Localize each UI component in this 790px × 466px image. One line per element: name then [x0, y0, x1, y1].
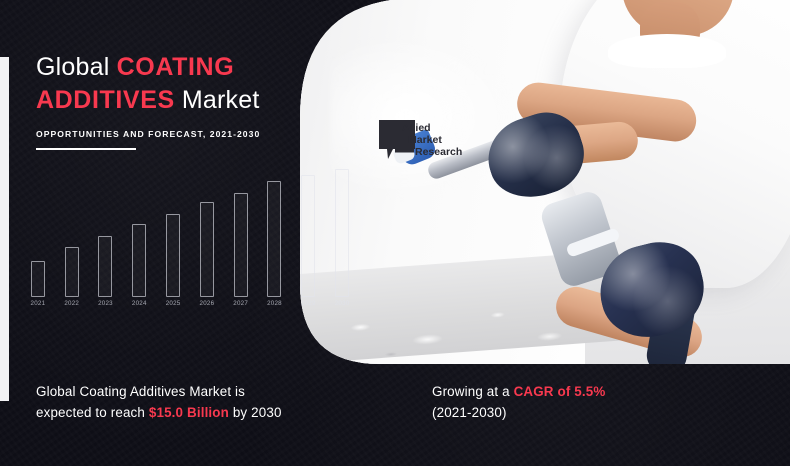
left-accent-strip [0, 57, 9, 401]
x-tick-label: 2023 [98, 300, 114, 316]
cagr-period: (2021-2030) [432, 402, 762, 423]
market-value-amount: $15.0 Billion [149, 405, 229, 420]
cagr-prefix: Growing at a [432, 384, 514, 399]
bar-column [300, 169, 316, 297]
headline-word-global: Global [36, 53, 109, 81]
headline-line-1: Global COATING [36, 52, 336, 83]
bar-column [199, 169, 215, 297]
x-tick-label: 2028 [267, 300, 283, 316]
bar [132, 224, 146, 297]
headline-word-additives: ADDITIVES [36, 86, 175, 114]
chart-bars [30, 169, 350, 297]
bar [234, 193, 248, 297]
market-value-line-2: expected to reach $15.0 Billion by 2030 [36, 402, 356, 423]
bar-column [233, 169, 249, 297]
allied-market-research-logo: Allied Market Research [378, 118, 482, 168]
x-tick-label: 2026 [199, 300, 215, 316]
bar-column [30, 169, 46, 297]
market-value-statement: Global Coating Additives Market is expec… [36, 381, 356, 423]
x-tick-label: 2022 [64, 300, 80, 316]
cagr-value: CAGR of 5.5% [514, 384, 606, 399]
bar [65, 247, 79, 297]
bar [335, 169, 349, 297]
spray-mist-glow [330, 35, 517, 200]
bar-column [267, 169, 283, 297]
bar-column [64, 169, 80, 297]
headline-word-market: Market [182, 86, 260, 114]
bar [98, 236, 112, 297]
bar [200, 202, 214, 297]
bar-column [98, 169, 114, 297]
x-tick-label: 2029 [300, 300, 316, 316]
x-tick-label: 2024 [131, 300, 147, 316]
bar-column [165, 169, 181, 297]
bar-column [131, 169, 147, 297]
bar [31, 261, 45, 297]
bar [301, 175, 315, 297]
worker-shirt-collar [608, 34, 726, 68]
logo-svg: Allied Market Research [378, 118, 482, 168]
x-tick-label: 2030 [334, 300, 350, 316]
bar-column [334, 169, 350, 297]
market-forecast-bar-chart: 2021 2022 2023 2024 2025 2026 2027 2028 … [30, 168, 350, 316]
headline-subtitle: OPPORTUNITIES AND FORECAST, 2021-2030 [36, 129, 336, 139]
x-tick-label: 2021 [30, 300, 46, 316]
logo-line-1: Allied [402, 122, 431, 134]
cagr-line-1: Growing at a CAGR of 5.5% [432, 381, 762, 402]
x-tick-label: 2027 [233, 300, 249, 316]
headline-line-2: ADDITIVES Market [36, 85, 336, 116]
x-tick-label: 2025 [165, 300, 181, 316]
cagr-statement: Growing at a CAGR of 5.5% (2021-2030) [432, 381, 762, 423]
bar [267, 181, 281, 297]
hero-photo-panel [300, 0, 790, 364]
market-value-line-1: Global Coating Additives Market is [36, 381, 356, 402]
market-value-prefix: expected to reach [36, 405, 149, 420]
infographic-canvas: Allied Market Research Global COATING AD… [0, 0, 790, 466]
headline-word-coating: COATING [117, 53, 235, 81]
headline-underline [36, 148, 136, 150]
chart-x-axis-labels: 2021 2022 2023 2024 2025 2026 2027 2028 … [30, 300, 350, 316]
logo-line-3: Research [415, 146, 462, 158]
market-value-suffix: by 2030 [229, 405, 282, 420]
photo-scene [300, 0, 790, 364]
logo-line-2: Market [408, 134, 442, 146]
bar [166, 214, 180, 297]
headline-block: Global COATING ADDITIVES Market OPPORTUN… [36, 52, 336, 150]
